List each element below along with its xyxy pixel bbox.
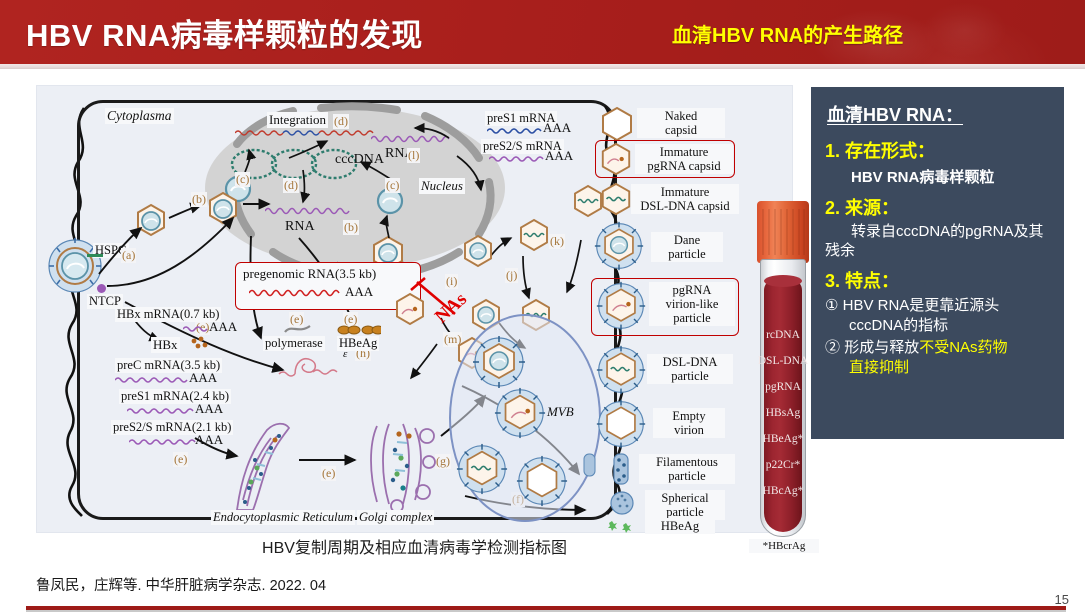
legend-label-dane-particle: Dane particle (651, 232, 723, 262)
legend-pgrna-virion-like-particle-icon (595, 280, 647, 332)
legend-immature-dsl-dna-capsid-icon (599, 182, 633, 216)
legend-line-2: particle (671, 369, 708, 383)
info-item-2-highlight-b: 直接抑制 (849, 358, 1054, 378)
legend-label-hbeag: HBeAg (645, 518, 715, 534)
legend-filamentous-particle-icon (609, 452, 633, 486)
legend-line-1: DSL-DNA (663, 355, 718, 369)
step-label-c1: (c) (235, 172, 250, 187)
hspg-receptor-icon (87, 254, 103, 257)
legend-spherical-particle-icon (609, 490, 635, 516)
legend-label-spherical-particle: Spherical particle (645, 490, 725, 520)
info-section-3-title: 特点： (845, 271, 899, 291)
tube-marker-hbsag: HBsAg (751, 407, 815, 419)
legend-line-2: DSL-DNA capsid (640, 199, 729, 213)
label-nucleus: Nucleus (419, 178, 465, 194)
legend-label-dsl-dna-particle: DSL-DNA particle (647, 354, 733, 384)
pgrna-squiggle-icon (249, 287, 359, 299)
legend-line-1: Empty (672, 409, 705, 423)
page-title: HBV RNA病毒样颗粒的发现 (26, 10, 423, 55)
info-section-1-number: 1. (825, 141, 840, 161)
released-filamentous-particle-icon (581, 452, 599, 478)
tube-cap-ridges-icon (757, 205, 809, 259)
step-label-d2: (d) (283, 178, 299, 193)
golgi-complex-icon (357, 418, 441, 510)
slide-body: Cytoplasma Integration (0, 69, 1085, 613)
page-number: 15 (1055, 592, 1069, 607)
tube-marker-p22cr: p22Cr* (751, 459, 815, 471)
label-polymerase: polymerase (263, 336, 325, 351)
figure-caption: HBV复制周期及相应血清病毒学检测指标图 (36, 534, 793, 558)
legend-line-1: HBeAg (661, 519, 699, 533)
label-polya-1: AAA (543, 120, 571, 136)
info-section-3-item-1: ① HBV RNA是更靠近源头 cccDNA的指标 (825, 296, 1054, 335)
legend-line-1: pgRNA (673, 283, 712, 297)
legend-line-2: particle (666, 505, 703, 519)
info-section-2-body: 转录自cccDNA的pgRNA及其残余 (825, 222, 1054, 260)
tube-serum-meniscus (764, 275, 802, 287)
tube-marker-rcdna: rcDNA (751, 329, 815, 341)
info-section-2-heading: 2. 来源： (825, 194, 1054, 220)
step-label-l: (l) (407, 148, 420, 163)
source-reference: 鲁凤民，庄辉等. 中华肝脏病学杂志. 2022. 04 (36, 574, 326, 595)
info-section-2-title: 来源： (845, 198, 899, 218)
capsid-core-hex-icon-j (461, 234, 495, 268)
info-section-1-sub: HBV RNA病毒样颗粒 (851, 166, 1054, 187)
step-label-j: (j) (505, 268, 518, 283)
serum-test-tube: rcDNA DSL-DNA pgRNA HBsAg HBeAg* p22Cr* … (751, 201, 815, 553)
label-polya-4: AAA (189, 370, 217, 386)
legend-empty-virion-icon (595, 398, 647, 450)
ntcp-receptor-icon (97, 284, 106, 293)
footer-secondary-rule (26, 610, 1066, 612)
epsilon-structure-icon (277, 352, 347, 380)
entry-capsid-hex-icon-2 (205, 190, 241, 226)
nuclear-rna-squiggle-icon-2 (371, 134, 451, 144)
mvb-dane-particle-icon (471, 334, 527, 390)
tube-marker-hbeag: HBeAg* (751, 433, 815, 445)
polymerase-icon (283, 322, 313, 336)
info-section-3-item-2: ② 形成与释放不受NAs药物 直接抑制 (825, 338, 1054, 377)
legend-line-2: pgRNA capsid (647, 159, 720, 173)
legend-line-2: particle (668, 247, 705, 261)
legend-line-1: Filamentous (656, 455, 718, 469)
step-label-c2: (c) (385, 178, 400, 193)
info-section-2-body-line1: 转录自cccDNA的pgRNA (851, 223, 1014, 240)
info-item-1-text-a: HBV RNA是更靠近源头 (843, 297, 1000, 314)
info-section-3-number: 3. (825, 271, 840, 291)
serum-hbv-rna-info-box: 血清HBV RNA： 1. 存在形式： HBV RNA病毒样颗粒 2. 来源： … (811, 87, 1064, 439)
info-item-1-text-b: cccDNA的指标 (849, 316, 1054, 336)
legend-line-1: Naked (665, 109, 698, 123)
label-hbx-protein: HBx (151, 337, 180, 353)
label-cytoplasm: Cytoplasma (105, 108, 174, 124)
legend-line-2: particle (668, 469, 705, 483)
legend-line-2: capsid (665, 123, 697, 137)
legend-line-2: virion-like (666, 297, 719, 311)
hbeag-dimer-icon (337, 324, 381, 336)
legend-label-filamentous-particle: Filamentous particle (639, 454, 735, 484)
label-epsilon: ε (343, 348, 347, 360)
immature-pgrna-capsid-icon-i (393, 292, 427, 326)
legend-line-1: Immature (660, 145, 709, 159)
label-mvb: MVB (545, 404, 576, 420)
step-label-b1: (b) (191, 192, 207, 207)
slide-header: HBV RNA病毒样颗粒的发现 血清HBV RNA的产生路径 (0, 0, 1085, 64)
info-item-2-marker: ② (825, 339, 840, 356)
info-section-2-number: 2. (825, 198, 840, 218)
label-integration: Integration (267, 112, 328, 128)
legend-label-pgrna-virion-like-particle: pgRNA virion-like particle (649, 282, 735, 326)
legend-hbeag-icon (607, 518, 635, 534)
info-item-1-marker: ① (825, 297, 838, 314)
info-box-title: 血清HBV RNA： (827, 101, 1054, 127)
mvb-dsl-dna-particle-icon (455, 442, 509, 496)
legend-line-1: Dane (674, 233, 700, 247)
header-subtitle: 血清HBV RNA的产生路径 (672, 19, 903, 48)
endoplasmic-reticulum-icon (227, 418, 303, 514)
integrated-dna-icon (235, 129, 375, 137)
step-label-e4: (e) (173, 452, 188, 467)
step-label-d1: (d) (333, 114, 349, 129)
legend-line-3: particle (673, 311, 710, 325)
legend-label-immature-dsl-dna-capsid: Immature DSL-DNA capsid (631, 184, 739, 214)
hbv-lifecycle-figure: Cytoplasma Integration (36, 85, 793, 533)
tube-marker-pgrna: pgRNA (751, 381, 815, 393)
dsl-dna-capsid-hex-icon-1 (517, 218, 551, 252)
info-item-2-highlight-a: 不受NAs药物 (919, 339, 1007, 356)
label-pregenomic-rna: pregenomic RNA(3.5 kb) (243, 266, 376, 282)
step-label-a: (a) (121, 248, 136, 263)
label-cccdna: cccDNA (335, 152, 384, 168)
entry-capsid-hex-icon-1 (133, 202, 169, 238)
label-er: Endocytoplasmic Reticulum (211, 510, 355, 525)
legend-immature-pgrna-capsid-icon (599, 142, 633, 176)
legend-label-naked-capsid: Naked capsid (637, 108, 725, 138)
info-section-3-heading: 3. 特点： (825, 267, 1054, 293)
legend-line-1: Spherical (661, 491, 708, 505)
label-hbx-mrna: HBx mRNA(0.7 kb) (115, 307, 221, 322)
legend-naked-capsid-icon (599, 106, 635, 142)
label-polya-2: AAA (545, 148, 573, 164)
hbx-protein-dots-icon (189, 336, 211, 352)
legend-label-immature-pgrna-capsid: Immature pgRNA capsid (635, 144, 733, 174)
tube-marker-dsl-dna: DSL-DNA (751, 355, 815, 367)
label-polya-3: AAA (209, 319, 237, 335)
label-polya-6: AAA (195, 432, 223, 448)
nuclear-rna-squiggle-icon (265, 206, 351, 216)
info-section-1-heading: 1. 存在形式： (825, 137, 1054, 163)
info-section-1-title: 存在形式： (845, 141, 935, 161)
mvb-pgrna-virion-icon (493, 386, 547, 440)
label-polya-5: AAA (195, 401, 223, 417)
legend-line-1: Immature (661, 185, 710, 199)
step-label-e5: (e) (321, 466, 336, 481)
mvb-empty-virion-icon (515, 454, 569, 508)
label-polya-pgrna: AAA (345, 284, 373, 300)
info-item-2-text-a: 形成与释放 (844, 339, 919, 356)
step-label-b2: (b) (343, 220, 359, 235)
step-label-k: (k) (549, 234, 565, 249)
tube-marker-hbcag: HBcAg* (751, 485, 815, 497)
label-golgi: Golgi complex (357, 510, 434, 525)
legend-dane-particle-icon (593, 220, 645, 272)
label-nuclear-rna-1: RNA (285, 219, 315, 235)
legend-dsl-dna-particle-icon (595, 344, 647, 396)
legend-label-empty-virion: Empty virion (653, 408, 725, 438)
legend-line-2: virion (674, 423, 704, 437)
